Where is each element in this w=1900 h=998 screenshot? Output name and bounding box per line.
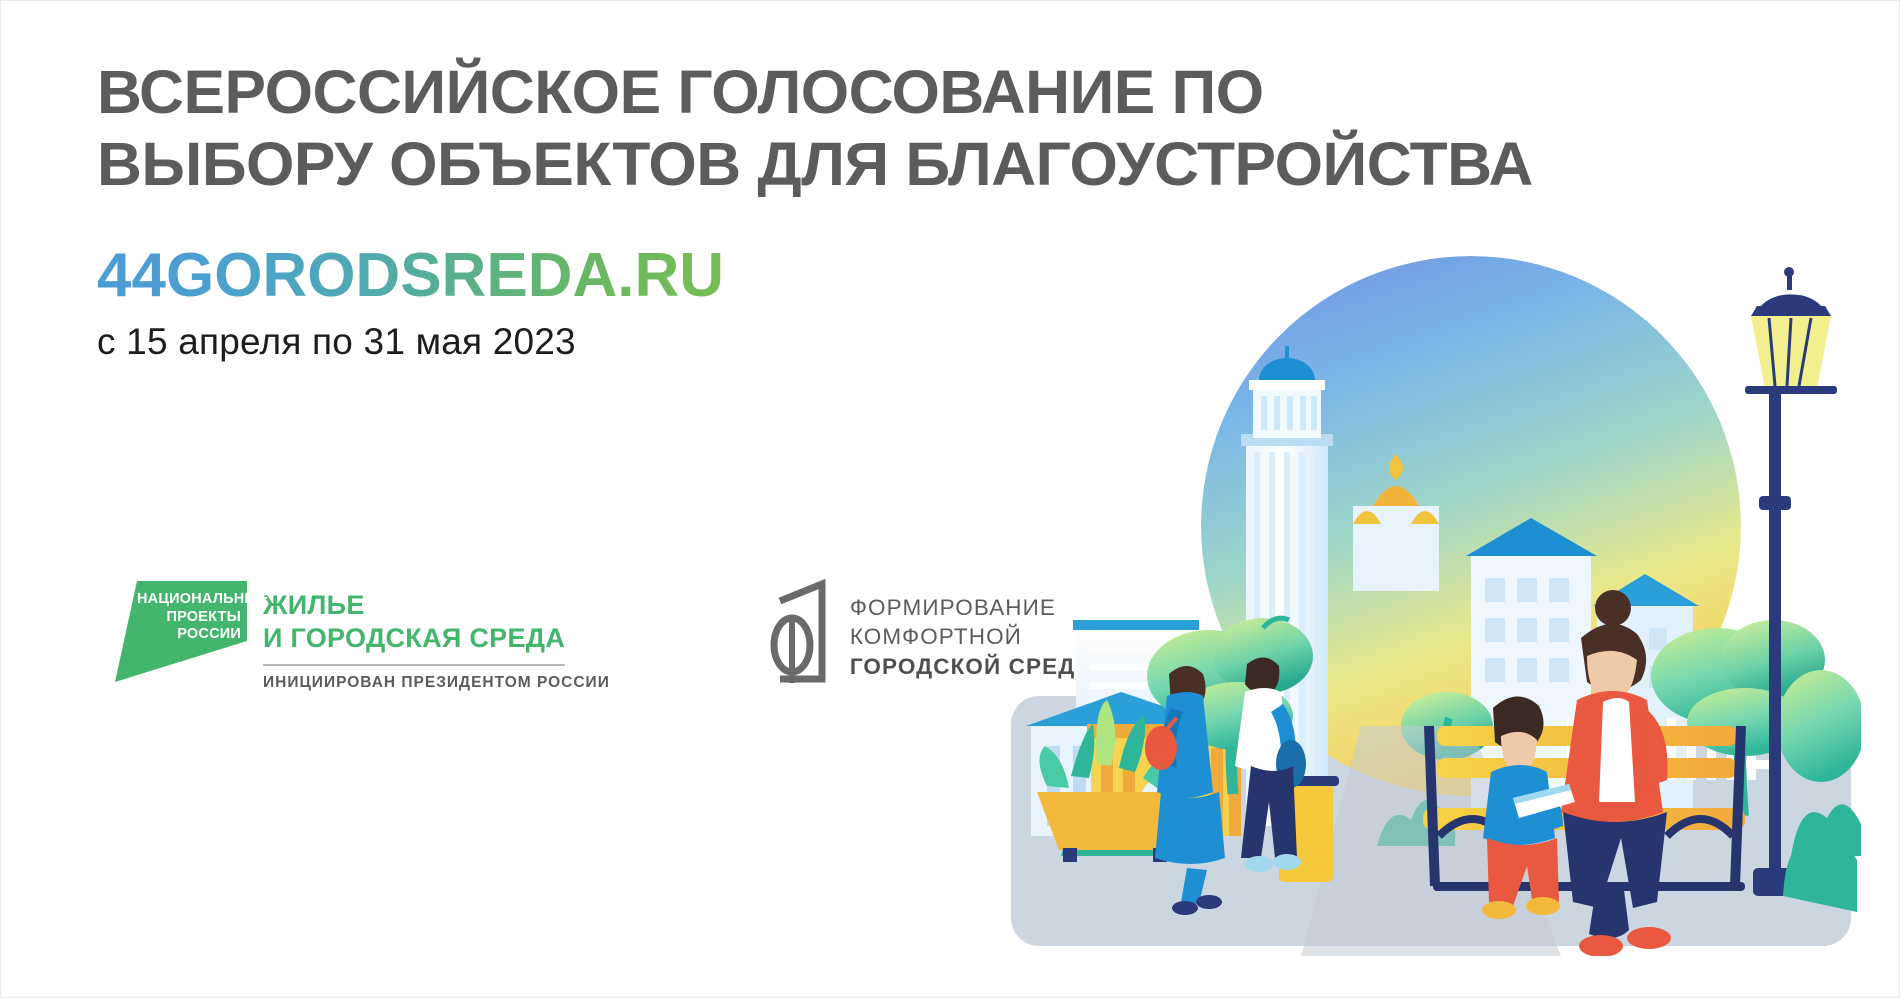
page-title: ВСЕРОССИЙСКОЕ ГОЛОСОВАНИЕ ПО ВЫБОРУ ОБЪЕ… [97,57,1556,201]
logo-row: НАЦИОНАЛЬНЫЕ ПРОЕКТЫ РОССИИ ЖИЛЬЕ И ГОРО… [97,579,1098,692]
divider [263,664,565,666]
np-title-line-1: ЖИЛЬЕ [263,589,610,622]
city-park-illustration [1001,256,1861,956]
vote-site-url[interactable]: 44GORODSREDA.RU [97,245,724,307]
np-mark-line-3: РОССИИ [137,626,241,644]
fkgs-door-icon [760,579,832,687]
np-title: ЖИЛЬЕ И ГОРОДСКАЯ СРЕДА [263,589,610,655]
headline-line-1: ВСЕРОССИЙСКОЕ ГОЛОСОВАНИЕ ПО [97,57,1556,129]
headline-line-2: ВЫБОРУ ОБЪЕКТОВ ДЛЯ БЛАГОУСТРОЙСТВА [97,129,1556,201]
logo-national-projects: НАЦИОНАЛЬНЫЕ ПРОЕКТЫ РОССИИ ЖИЛЬЕ И ГОРО… [97,579,610,692]
np-mark-line-2: ПРОЕКТЫ [137,609,241,627]
np-title-line-2: И ГОРОДСКАЯ СРЕДА [263,622,610,655]
national-projects-mark-text: НАЦИОНАЛЬНЫЕ ПРОЕКТЫ РОССИИ [137,591,241,644]
promo-banner: ВСЕРОССИЙСКОЕ ГОЛОСОВАНИЕ ПО ВЫБОРУ ОБЪЕ… [0,0,1900,998]
np-subtitle: ИНИЦИИРОВАН ПРЕЗИДЕНТОМ РОССИИ [263,674,610,692]
national-projects-flag-icon: НАЦИОНАЛЬНЫЕ ПРОЕКТЫ РОССИИ [97,579,247,684]
national-projects-wordmark: ЖИЛЬЕ И ГОРОДСКАЯ СРЕДА ИНИЦИИРОВАН ПРЕЗ… [263,579,610,692]
np-mark-line-1: НАЦИОНАЛЬНЫЕ [137,591,241,609]
